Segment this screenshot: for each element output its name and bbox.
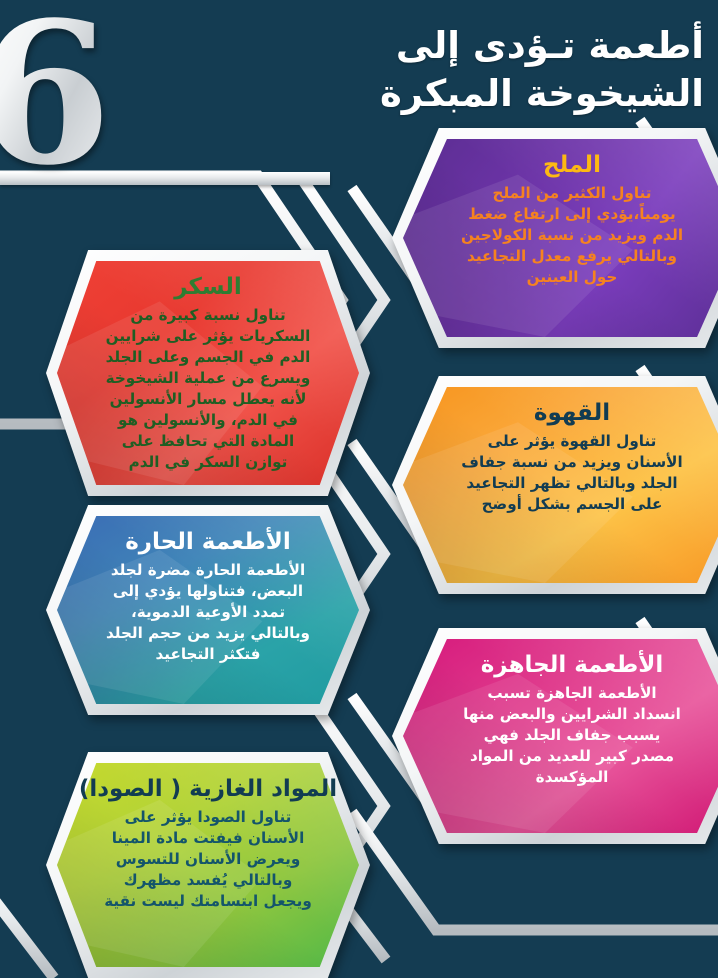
card-body: الأطعمة الجاهزة تسبب انسداد الشرايين وال…: [461, 683, 683, 788]
card-body: الأطعمة الحارة مضرة لجلد البعض، فتناولها…: [101, 560, 315, 665]
headline-line-2: الشيخوخة المبكرة: [352, 70, 704, 118]
card-content: الملح تناول الكثير من الملح يومياً،يؤدي …: [403, 139, 718, 337]
card-content: الأطعمة الحارة الأطعمة الحارة مضرة لجلد …: [57, 516, 359, 704]
card-body: تناول الصودا يؤثر على الأسنان فيفتت مادة…: [101, 807, 315, 912]
card-body: تناول القهوة يؤثر على الأسنان ويزيد من ن…: [461, 431, 683, 515]
card-heading: القهوة: [534, 400, 610, 426]
headline-line-1: أطعمة تـؤدى إلى: [352, 22, 704, 70]
card-ready-made-foods[interactable]: الأطعمة الجاهزة الأطعمة الجاهزة تسبب انس…: [392, 628, 718, 844]
card-content: القهوة تناول القهوة يؤثر على الأسنان ويز…: [403, 387, 718, 583]
card-heading: السكر: [174, 274, 242, 300]
card-salt[interactable]: الملح تناول الكثير من الملح يومياً،يؤدي …: [392, 128, 718, 348]
card-content: الأطعمة الجاهزة الأطعمة الجاهزة تسبب انس…: [403, 639, 718, 833]
card-body: تناول نسبة كبيرة من السكريات يؤثر على شر…: [101, 305, 315, 473]
card-soda[interactable]: المواد الغازية ( الصودا) تناول الصودا يؤ…: [46, 752, 370, 978]
infographic-poster: 6 أطعمة تـؤدى إلى الشيخوخة المبكرة الملح…: [0, 0, 718, 978]
card-heading: المواد الغازية ( الصودا): [79, 776, 337, 802]
card-heading: الأطعمة الحارة: [125, 529, 291, 555]
card-heading: الأطعمة الجاهزة: [481, 652, 664, 678]
card-heading: الملح: [543, 152, 601, 178]
card-content: المواد الغازية ( الصودا) تناول الصودا يؤ…: [57, 763, 359, 967]
card-spicy-foods[interactable]: الأطعمة الحارة الأطعمة الحارة مضرة لجلد …: [46, 505, 370, 715]
card-content: السكر تناول نسبة كبيرة من السكريات يؤثر …: [57, 261, 359, 485]
headline-numeral: 6: [0, 0, 112, 191]
headline-block: أطعمة تـؤدى إلى الشيخوخة المبكرة: [352, 22, 704, 118]
card-body: تناول الكثير من الملح يومياً،يؤدي إلى ار…: [459, 183, 685, 288]
card-sugar[interactable]: السكر تناول نسبة كبيرة من السكريات يؤثر …: [46, 250, 370, 496]
card-coffee[interactable]: القهوة تناول القهوة يؤثر على الأسنان ويز…: [392, 376, 718, 594]
